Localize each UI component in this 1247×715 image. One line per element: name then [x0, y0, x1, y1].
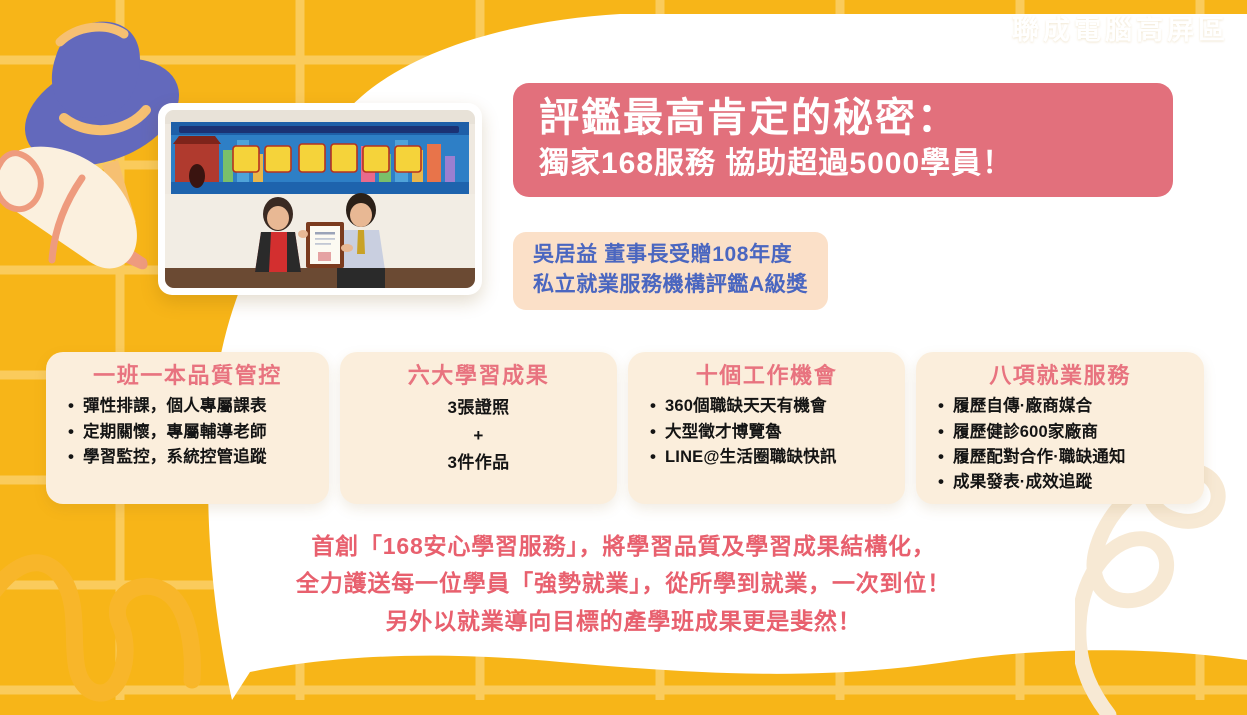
headline-line-1: 評鑑最高肯定的秘密： [539, 94, 1151, 143]
list-item: 360個職缺天天有機會 [650, 394, 895, 419]
footer-line-2: 全力護送每一位學員「強勢就業」，從所學到就業，一次到位！ [0, 565, 1247, 602]
subtitle-line-2: 私立就業服務機構評鑑A級獎 [533, 270, 808, 300]
subtitle-line-1: 吳居益 董事長受贈108年度 [533, 240, 808, 270]
list-item: 學習監控，系統控管追蹤 [68, 445, 319, 470]
list-item: 3張證照 [350, 394, 607, 422]
card-title: 六大學習成果 [350, 363, 607, 389]
list-item: 彈性排課，個人專屬課表 [68, 394, 319, 419]
card-title: 一班一本品質管控 [56, 363, 319, 389]
list-item: LINE@生活圈職缺快訊 [650, 445, 895, 470]
footer-line-1: 首創「168安心學習服務」，將學習品質及學習成果結構化， [0, 528, 1247, 565]
list-item: 成果發表·成效追蹤 [938, 470, 1194, 495]
feature-cards-row: 一班一本品質管控 彈性排課，個人專屬課表 定期關懷，專屬輔導老師 學習監控，系統… [46, 352, 1204, 504]
card-title: 八項就業服務 [926, 363, 1194, 389]
card-body: 履歷自傳·廠商媒合 履歷健診600家廠商 履歷配對合作·職缺通知 成果發表·成效… [926, 394, 1194, 495]
footer-line-3: 另外以就業導向目標的產學班成果更是斐然！ [0, 603, 1247, 640]
award-ceremony-photo [165, 110, 475, 288]
award-photo-frame [158, 103, 482, 295]
headline-banner: 評鑑最高肯定的秘密： 獨家168服務 協助超過5000學員！ [513, 83, 1173, 197]
brand-logo: 聯成電腦高屏區 LCC Kaohsiung&Pingtung [1012, 16, 1229, 61]
subtitle-box: 吳居益 董事長受贈108年度 私立就業服務機構評鑑A級獎 [513, 232, 828, 310]
feature-card-outcomes: 六大學習成果 3張證照 + 3件作品 [340, 352, 617, 504]
logo-sub-text: LCC Kaohsiung&Pingtung [1012, 47, 1229, 61]
headline-line-2: 獨家168服務 協助超過5000學員！ [539, 145, 1151, 183]
card-title: 十個工作機會 [638, 363, 895, 389]
list-item: 定期關懷，專屬輔導老師 [68, 420, 319, 445]
list-item: + [350, 422, 607, 450]
card-body: 3張證照 + 3件作品 [350, 394, 607, 477]
feature-card-services: 八項就業服務 履歷自傳·廠商媒合 履歷健診600家廠商 履歷配對合作·職缺通知 … [916, 352, 1204, 504]
list-item: 3件作品 [350, 449, 607, 477]
feature-card-quality: 一班一本品質管控 彈性排課，個人專屬課表 定期關懷，專屬輔導老師 學習監控，系統… [46, 352, 329, 504]
feature-card-jobs: 十個工作機會 360個職缺天天有機會 大型徵才博覽魯 LINE@生活圈職缺快訊 [628, 352, 905, 504]
footer-paragraph: 首創「168安心學習服務」，將學習品質及學習成果結構化， 全力護送每一位學員「強… [0, 528, 1247, 640]
list-item: 履歷自傳·廠商媒合 [938, 394, 1194, 419]
list-item: 履歷健診600家廠商 [938, 420, 1194, 445]
card-body: 彈性排課，個人專屬課表 定期關懷，專屬輔導老師 學習監控，系統控管追蹤 [56, 394, 319, 470]
logo-main-text: 聯成電腦高屏區 [1012, 16, 1229, 44]
list-item: 履歷配對合作·職缺通知 [938, 445, 1194, 470]
card-body: 360個職缺天天有機會 大型徵才博覽魯 LINE@生活圈職缺快訊 [638, 394, 895, 470]
list-item: 大型徵才博覽魯 [650, 420, 895, 445]
